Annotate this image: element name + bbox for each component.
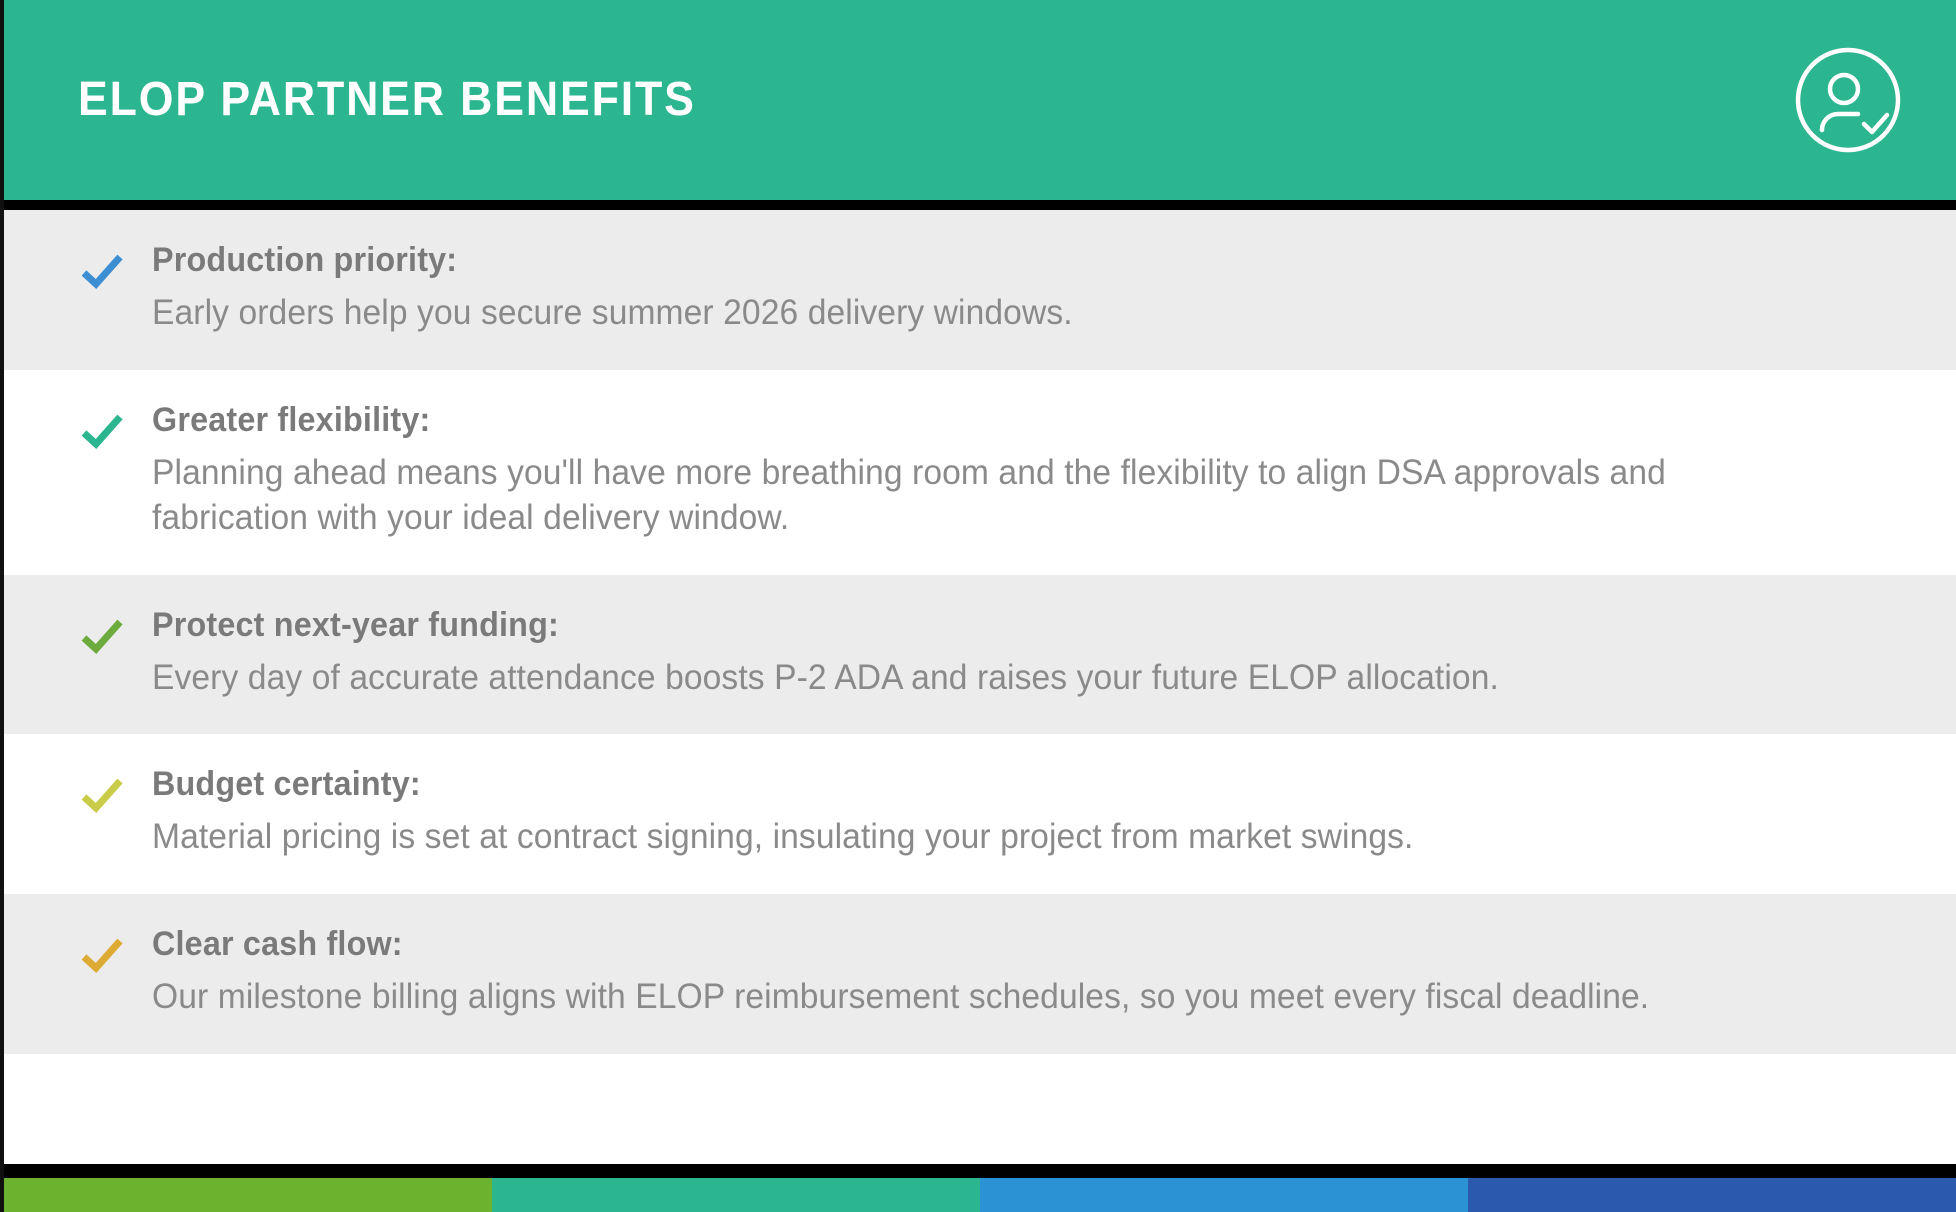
list-item-description: Every day of accurate attendance boosts … (152, 655, 1826, 701)
user-check-circle-icon (1792, 44, 1904, 156)
list-item-description: Our milestone billing aligns with ELOP r… (152, 974, 1826, 1020)
card-header: ELOP Partner Benefits (4, 0, 1956, 200)
list-item-title: Production priority: (152, 240, 1809, 280)
list-item: Budget certainty: Material pricing is se… (4, 734, 1956, 894)
checkmark-icon (74, 240, 130, 294)
checkmark-icon (74, 764, 130, 818)
list-item: Production priority: Early orders help y… (4, 210, 1956, 370)
list-item-text: Protect next-year funding: Every day of … (152, 605, 1896, 701)
list-item-description: Early orders help you secure summer 2026… (152, 290, 1826, 336)
list-item-text: Clear cash flow: Our milestone billing a… (152, 924, 1896, 1020)
footer-bar-teal (492, 1178, 980, 1212)
benefit-list: Production priority: Early orders help y… (4, 210, 1956, 1054)
list-item: Clear cash flow: Our milestone billing a… (4, 894, 1956, 1054)
footer-bar-dark-blue (1468, 1178, 1956, 1212)
header-divider (4, 200, 1956, 210)
checkmark-icon (74, 924, 130, 978)
list-item-text: Production priority: Early orders help y… (152, 240, 1896, 336)
elop-partner-benefits-card: ELOP Partner Benefits Production priorit… (0, 0, 1956, 1212)
page-title: ELOP Partner Benefits (78, 76, 696, 124)
list-item-title: Greater flexibility: (152, 400, 1809, 440)
footer-bar-green (4, 1178, 492, 1212)
list-item-text: Greater flexibility: Planning ahead mean… (152, 400, 1896, 541)
card-footer (4, 1164, 1956, 1212)
list-item-title: Protect next-year funding: (152, 605, 1809, 645)
list-item-text: Budget certainty: Material pricing is se… (152, 764, 1896, 860)
list-item-title: Clear cash flow: (152, 924, 1809, 964)
checkmark-icon (74, 605, 130, 659)
list-item: Greater flexibility: Planning ahead mean… (4, 370, 1956, 575)
footer-bar-light-blue (980, 1178, 1468, 1212)
list-item-title: Budget certainty: (152, 764, 1809, 804)
list-item: Protect next-year funding: Every day of … (4, 575, 1956, 735)
list-item-description: Material pricing is set at contract sign… (152, 814, 1826, 860)
footer-color-bars (4, 1178, 1956, 1212)
footer-divider (4, 1164, 1956, 1178)
checkmark-icon (74, 400, 130, 454)
list-item-description: Planning ahead means you'll have more br… (152, 450, 1826, 541)
